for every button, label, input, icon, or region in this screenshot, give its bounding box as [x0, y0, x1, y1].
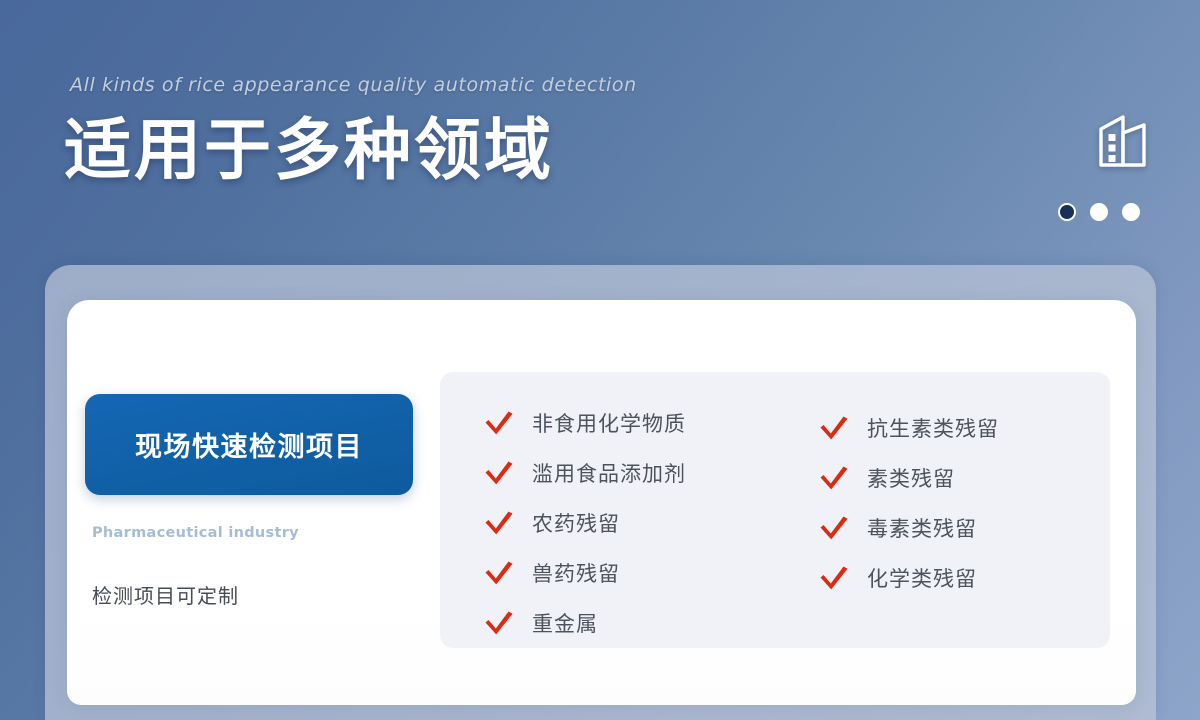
- list-item-label: 素类残留: [851, 463, 955, 493]
- check-icon: [482, 510, 516, 536]
- list-item-label: 农药残留: [516, 508, 620, 538]
- list-item: 滥用食品添加剂: [482, 448, 785, 498]
- list-item: 非食用化学物质: [482, 398, 785, 448]
- list-item-label: 毒素类残留: [851, 513, 977, 543]
- list-item: 毒素类残留: [817, 503, 1085, 553]
- rapid-detection-button[interactable]: 现场快速检测项目: [85, 394, 413, 495]
- check-icon: [482, 610, 516, 636]
- customizable-note: 检测项目可定制: [92, 580, 239, 609]
- industry-subtitle: Pharmaceutical industry: [92, 525, 299, 541]
- check-icon: [817, 565, 851, 591]
- list-item-label: 滥用食品添加剂: [516, 458, 686, 488]
- list-item: 重金属: [482, 598, 785, 648]
- list-item: 农药残留: [482, 498, 785, 548]
- carousel-dot-3[interactable]: [1122, 203, 1140, 221]
- check-icon: [482, 410, 516, 436]
- carousel-dots[interactable]: [1058, 201, 1150, 223]
- detection-items-box: 非食用化学物质 滥用食品添加剂 农药残留 兽药: [440, 372, 1110, 648]
- list-item-label: 抗生素类残留: [851, 413, 999, 443]
- list-item-label: 化学类残留: [851, 563, 977, 593]
- check-icon: [817, 515, 851, 541]
- carousel-dot-2[interactable]: [1090, 203, 1108, 221]
- check-icon: [482, 560, 516, 586]
- list-item: 抗生素类残留: [817, 403, 1085, 453]
- detection-list-column-left: 非食用化学物质 滥用食品添加剂 农药残留 兽药: [440, 398, 785, 648]
- check-icon: [817, 415, 851, 441]
- hero-headline: 适用于多种领域: [64, 116, 554, 186]
- list-item-label: 重金属: [516, 608, 598, 638]
- check-icon: [817, 465, 851, 491]
- list-item: 素类残留: [817, 453, 1085, 503]
- list-item: 兽药残留: [482, 548, 785, 598]
- hero-eyebrow-text: All kinds of rice appearance quality aut…: [70, 74, 637, 96]
- detection-list-column-right: 抗生素类残留 素类残留 毒素类残留 化学类残留: [785, 398, 1085, 648]
- carousel-dot-1[interactable]: [1058, 203, 1076, 221]
- list-item-label: 兽药残留: [516, 558, 620, 588]
- rapid-detection-button-label: 现场快速检测项目: [135, 425, 363, 464]
- list-item-label: 非食用化学物质: [516, 408, 686, 438]
- building-icon: [1092, 112, 1154, 170]
- hero-header: All kinds of rice appearance quality aut…: [0, 0, 1200, 265]
- list-item: 化学类残留: [817, 553, 1085, 603]
- check-icon: [482, 460, 516, 486]
